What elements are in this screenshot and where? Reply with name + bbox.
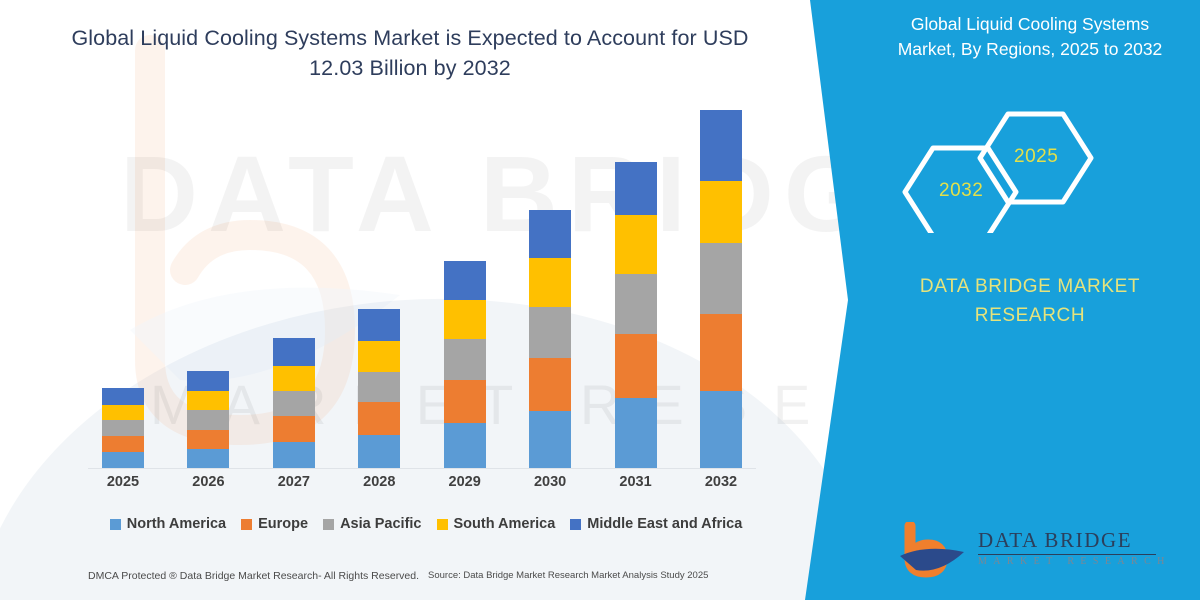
bar-segment: [358, 435, 400, 468]
x-axis-label-2029: 2029: [444, 474, 486, 498]
bar-2027: [273, 110, 315, 468]
bar-segment: [700, 314, 742, 391]
bar-segment: [615, 398, 657, 468]
bar-segment: [529, 210, 571, 259]
bar-segment: [444, 261, 486, 301]
bar-segment: [358, 372, 400, 403]
logo-tagline: MARKET RESEARCH: [978, 556, 1171, 567]
bar-segment: [273, 366, 315, 391]
legend-label: Middle East and Africa: [587, 516, 742, 532]
legend-swatch-icon: [570, 519, 581, 530]
bar-segment: [187, 430, 229, 449]
legend-label: Europe: [258, 516, 308, 532]
legend-item[interactable]: Middle East and Africa: [570, 516, 742, 532]
bar-segment: [700, 391, 742, 468]
brand-panel-content: Global Liquid Cooling Systems Market, By…: [780, 0, 1200, 600]
x-axis-label-2032: 2032: [700, 474, 742, 498]
bar-2031: [615, 110, 657, 468]
bar-segment: [529, 258, 571, 307]
legend-item[interactable]: North America: [110, 516, 226, 532]
bar-segment: [615, 215, 657, 274]
bar-2030: [529, 110, 571, 468]
legend-item[interactable]: Europe: [241, 516, 308, 532]
bar-segment: [700, 181, 742, 242]
legend-swatch-icon: [437, 519, 448, 530]
hexagon-pair-icon: [898, 108, 1138, 233]
bar-2025: [102, 110, 144, 468]
bar-segment: [273, 442, 315, 468]
legend-item[interactable]: South America: [437, 516, 556, 532]
bar-segment: [273, 338, 315, 366]
panel-brand-line2: RESEARCH: [975, 305, 1085, 326]
bar-segment: [358, 309, 400, 341]
x-axis-label-2028: 2028: [358, 474, 400, 498]
bar-segment: [102, 405, 144, 421]
chart-legend: North AmericaEuropeAsia PacificSouth Ame…: [96, 513, 756, 535]
bar-segment: [358, 341, 400, 372]
x-axis-label-2027: 2027: [273, 474, 315, 498]
bar-segment: [273, 416, 315, 442]
bar-2028: [358, 110, 400, 468]
bar-segment: [273, 391, 315, 416]
data-bridge-logo-icon: [898, 522, 970, 580]
bar-segment: [529, 358, 571, 411]
bar-2032: [700, 110, 742, 468]
legend-swatch-icon: [323, 519, 334, 530]
bar-segment: [358, 402, 400, 435]
bar-segment: [700, 110, 742, 181]
chart-title: Global Liquid Cooling Systems Market is …: [60, 24, 760, 83]
panel-heading: Global Liquid Cooling Systems Market, By…: [880, 12, 1180, 63]
company-logo: DATA BRIDGE MARKET RESEARCH: [898, 522, 1188, 584]
bar-segment: [187, 371, 229, 391]
bar-segment: [102, 420, 144, 436]
bar-segment: [444, 423, 486, 468]
legend-swatch-icon: [241, 519, 252, 530]
bar-segment: [615, 274, 657, 334]
legend-swatch-icon: [110, 519, 121, 530]
bar-segment: [700, 243, 742, 314]
bar-segment: [615, 334, 657, 397]
x-axis-label-2026: 2026: [187, 474, 229, 498]
x-axis-label-2025: 2025: [102, 474, 144, 498]
bar-segment: [102, 388, 144, 405]
bar-group: [96, 110, 748, 468]
hexagon-group: 2025 2032: [898, 108, 1138, 233]
x-axis-label-2030: 2030: [529, 474, 571, 498]
legend-label: Asia Pacific: [340, 516, 421, 532]
legend-label: North America: [127, 516, 226, 532]
x-axis-line: [88, 468, 756, 469]
hexagon-label-2025: 2025: [1014, 146, 1058, 168]
legend-item[interactable]: Asia Pacific: [323, 516, 421, 532]
chart-plot-area: [96, 110, 748, 468]
bar-segment: [102, 452, 144, 468]
bar-segment: [187, 391, 229, 410]
bar-2026: [187, 110, 229, 468]
bar-segment: [444, 339, 486, 380]
legend-label: South America: [454, 516, 556, 532]
logo-wordmark: DATA BRIDGE: [978, 528, 1132, 553]
bar-segment: [444, 380, 486, 423]
chart-infographic: DATA BRIDGE MARKET RESEARCH Global Liqui…: [0, 0, 1200, 600]
x-axis-label-2031: 2031: [615, 474, 657, 498]
bar-segment: [615, 162, 657, 215]
footer: DMCA Protected ® Data Bridge Market Rese…: [0, 566, 790, 596]
footer-copyright: DMCA Protected ® Data Bridge Market Rese…: [88, 570, 419, 582]
bar-segment: [529, 411, 571, 468]
footer-source: Source: Data Bridge Market Research Mark…: [428, 570, 708, 581]
bar-segment: [444, 300, 486, 339]
bar-segment: [102, 436, 144, 452]
bar-segment: [187, 449, 229, 468]
hexagon-label-2032: 2032: [939, 180, 983, 202]
panel-brand-name: DATA BRIDGE MARKET RESEARCH: [880, 272, 1180, 331]
panel-brand-line1: DATA BRIDGE MARKET: [920, 276, 1140, 297]
bar-2029: [444, 110, 486, 468]
x-axis-labels: 20252026202720282029203020312032: [96, 474, 748, 498]
bar-segment: [187, 410, 229, 429]
bar-segment: [529, 307, 571, 358]
